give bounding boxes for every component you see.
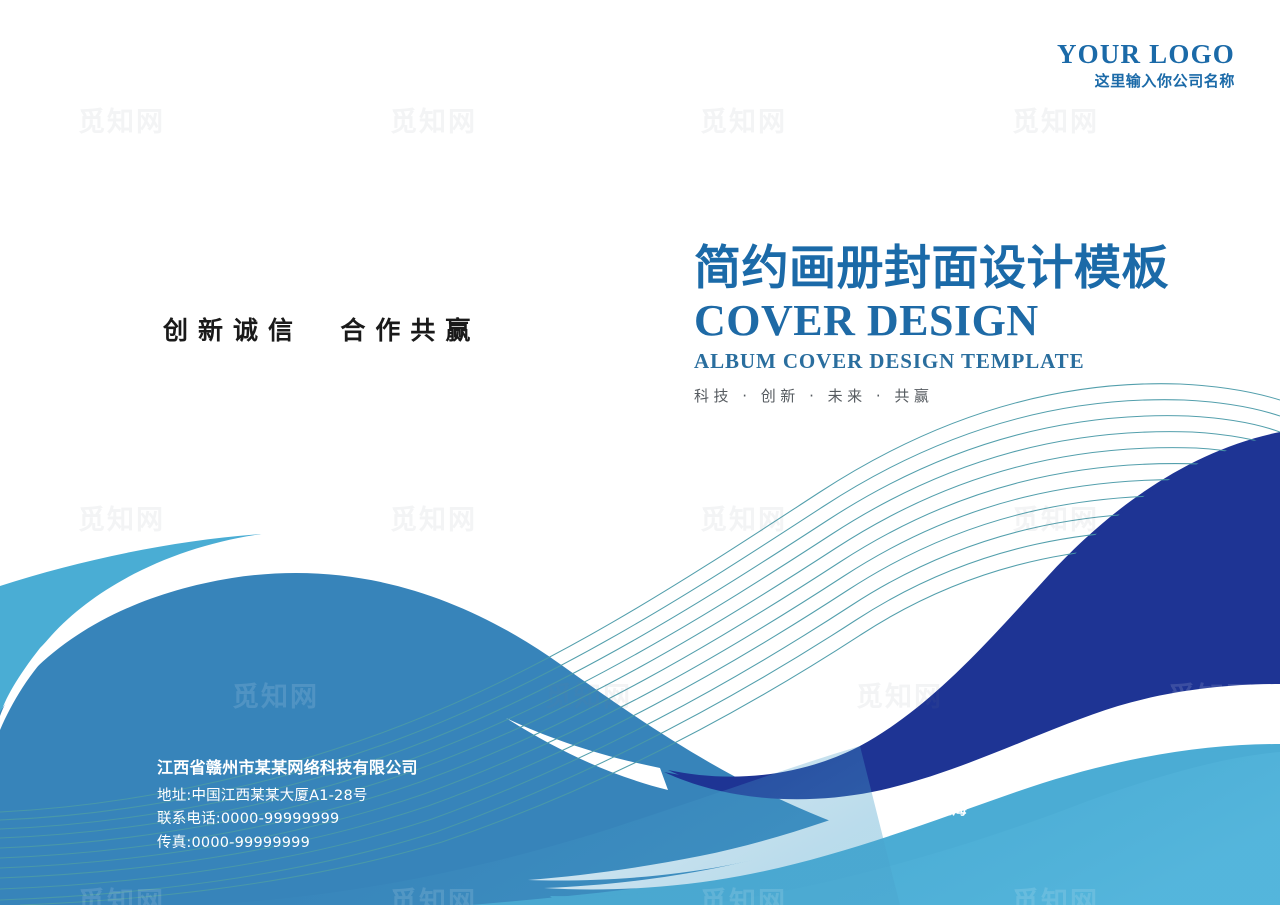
cover-canvas: 觅知网觅知网觅知网觅知网觅知网觅知网觅知网觅知网觅知网觅知网觅知网觅知网觅知网觅…: [0, 0, 1280, 905]
logo-title: YOUR LOGO: [1057, 40, 1235, 68]
contact-line: 地址:中国江西某某大厦A1-28号: [157, 785, 418, 808]
contact-block: 江西省赣州市某某网络科技有限公司 地址:中国江西某某大厦A1-28号联系电话:0…: [157, 754, 418, 855]
left-slogan: 创新诚信 合作共赢: [163, 311, 480, 347]
title-tagline: 科技 · 创新 · 未来 · 共赢: [694, 385, 1254, 406]
title-chinese: 简约画册封面设计模板: [694, 244, 1254, 295]
title-block: 简约画册封面设计模板 COVER DESIGN ALBUM COVER DESI…: [694, 244, 1254, 406]
contact-detail-lines: 地址:中国江西某某大厦A1-28号联系电话:0000-99999999传真:00…: [157, 785, 418, 855]
contact-line: 联系电话:0000-99999999: [157, 808, 418, 831]
logo-subtitle: 这里输入你公司名称: [1057, 73, 1235, 90]
contact-company-name: 江西省赣州市某某网络科技有限公司: [157, 754, 418, 778]
location-label: 中国·上海: [899, 798, 967, 819]
title-english: COVER DESIGN: [694, 297, 1254, 345]
contact-line: 传真:0000-99999999: [157, 832, 418, 855]
logo-block: YOUR LOGO 这里输入你公司名称: [1057, 40, 1235, 90]
title-english-subtitle: ALBUM COVER DESIGN TEMPLATE: [694, 349, 1254, 374]
